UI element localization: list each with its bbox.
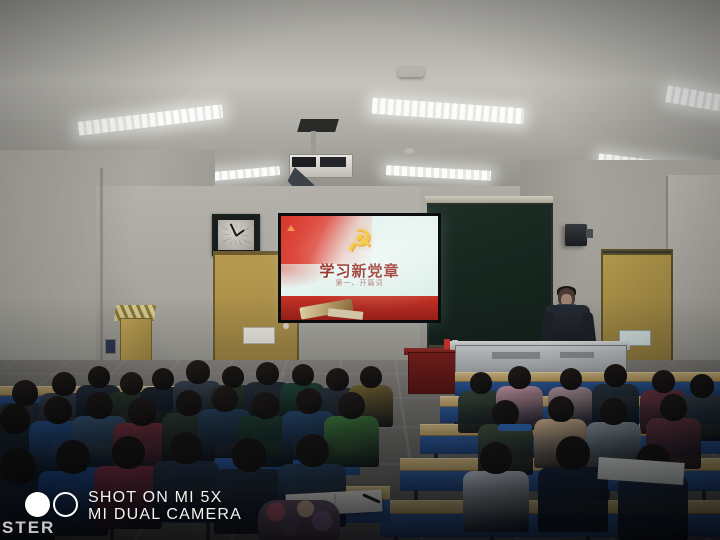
desk-leg [206,522,210,540]
person-head [44,396,72,424]
pencil-case [498,424,532,431]
smoke-detector-icon [398,66,424,77]
person-head [604,364,627,387]
projector-panel [320,157,346,167]
person-head [492,400,519,427]
person-head [56,440,90,474]
door-sign [243,327,275,344]
person-head [186,360,210,384]
person-head [296,388,322,414]
classroom-photo: ☭ 学习新党章 第一、开篇词 SHOT ON MI 5X MI DUAL CAM… [0,0,720,540]
projector-bracket [297,119,339,132]
person-head [326,368,349,391]
desk-top [455,372,720,382]
wall-switch-plate[interactable] [105,339,116,354]
desk-leg [490,536,494,540]
clock-face [218,220,254,250]
wall-speaker [565,224,587,246]
door-knob-icon[interactable] [283,323,289,329]
person-head [560,368,582,390]
person-head [360,366,382,388]
person-head [480,442,512,474]
camera-lens-filled-icon [25,492,50,517]
projection-screen: ☭ 学习新党章 第一、开篇词 [281,216,438,320]
person-head [548,396,574,422]
watermark-line-2: MI DUAL CAMERA [88,506,242,523]
desk-leg [586,536,590,540]
person-head [52,372,76,396]
person-torso [618,475,688,540]
person-head [12,380,38,406]
person-head [690,374,714,398]
wall-corner-edge [100,168,103,383]
person-head [556,436,590,470]
jacket-text: STER [2,518,55,538]
person-head [0,448,36,484]
person-head [152,368,174,390]
person-torso [463,471,529,532]
person-head [0,404,30,434]
person-head [120,372,143,395]
person-head [252,392,279,419]
person-head [652,370,675,393]
floral-backpack [258,500,340,540]
person-head [170,432,202,464]
person-head [296,434,329,467]
projector-pole [311,131,316,155]
wall-right-panel [668,175,720,380]
console-panel [492,352,540,359]
person-head [112,436,145,469]
person-head [128,398,156,426]
person-head [470,372,492,394]
desk-leg [394,536,398,540]
person-head [256,362,279,385]
wall-clock [212,214,260,256]
person-head [212,386,238,412]
person-head [176,390,202,416]
console-panel [560,352,594,358]
green-chalkboard [427,203,553,355]
person-head [86,392,113,419]
watermark-line-1: SHOT ON MI 5X [88,489,242,506]
person-head [338,392,365,419]
person-torso [324,416,379,467]
person-head [88,366,110,388]
person-head [292,364,314,386]
smoke-detector-icon [404,148,414,154]
screen-light-bloom [281,216,438,320]
person-head [508,366,531,389]
camera-lens-outline-icon [53,492,78,517]
person-head [660,394,687,421]
person-head [232,438,266,472]
person-head [222,366,244,388]
projector-panel [292,157,316,167]
speaker-bracket [586,229,593,238]
person-head [600,398,627,425]
watermark: SHOT ON MI 5X MI DUAL CAMERA [88,489,242,523]
